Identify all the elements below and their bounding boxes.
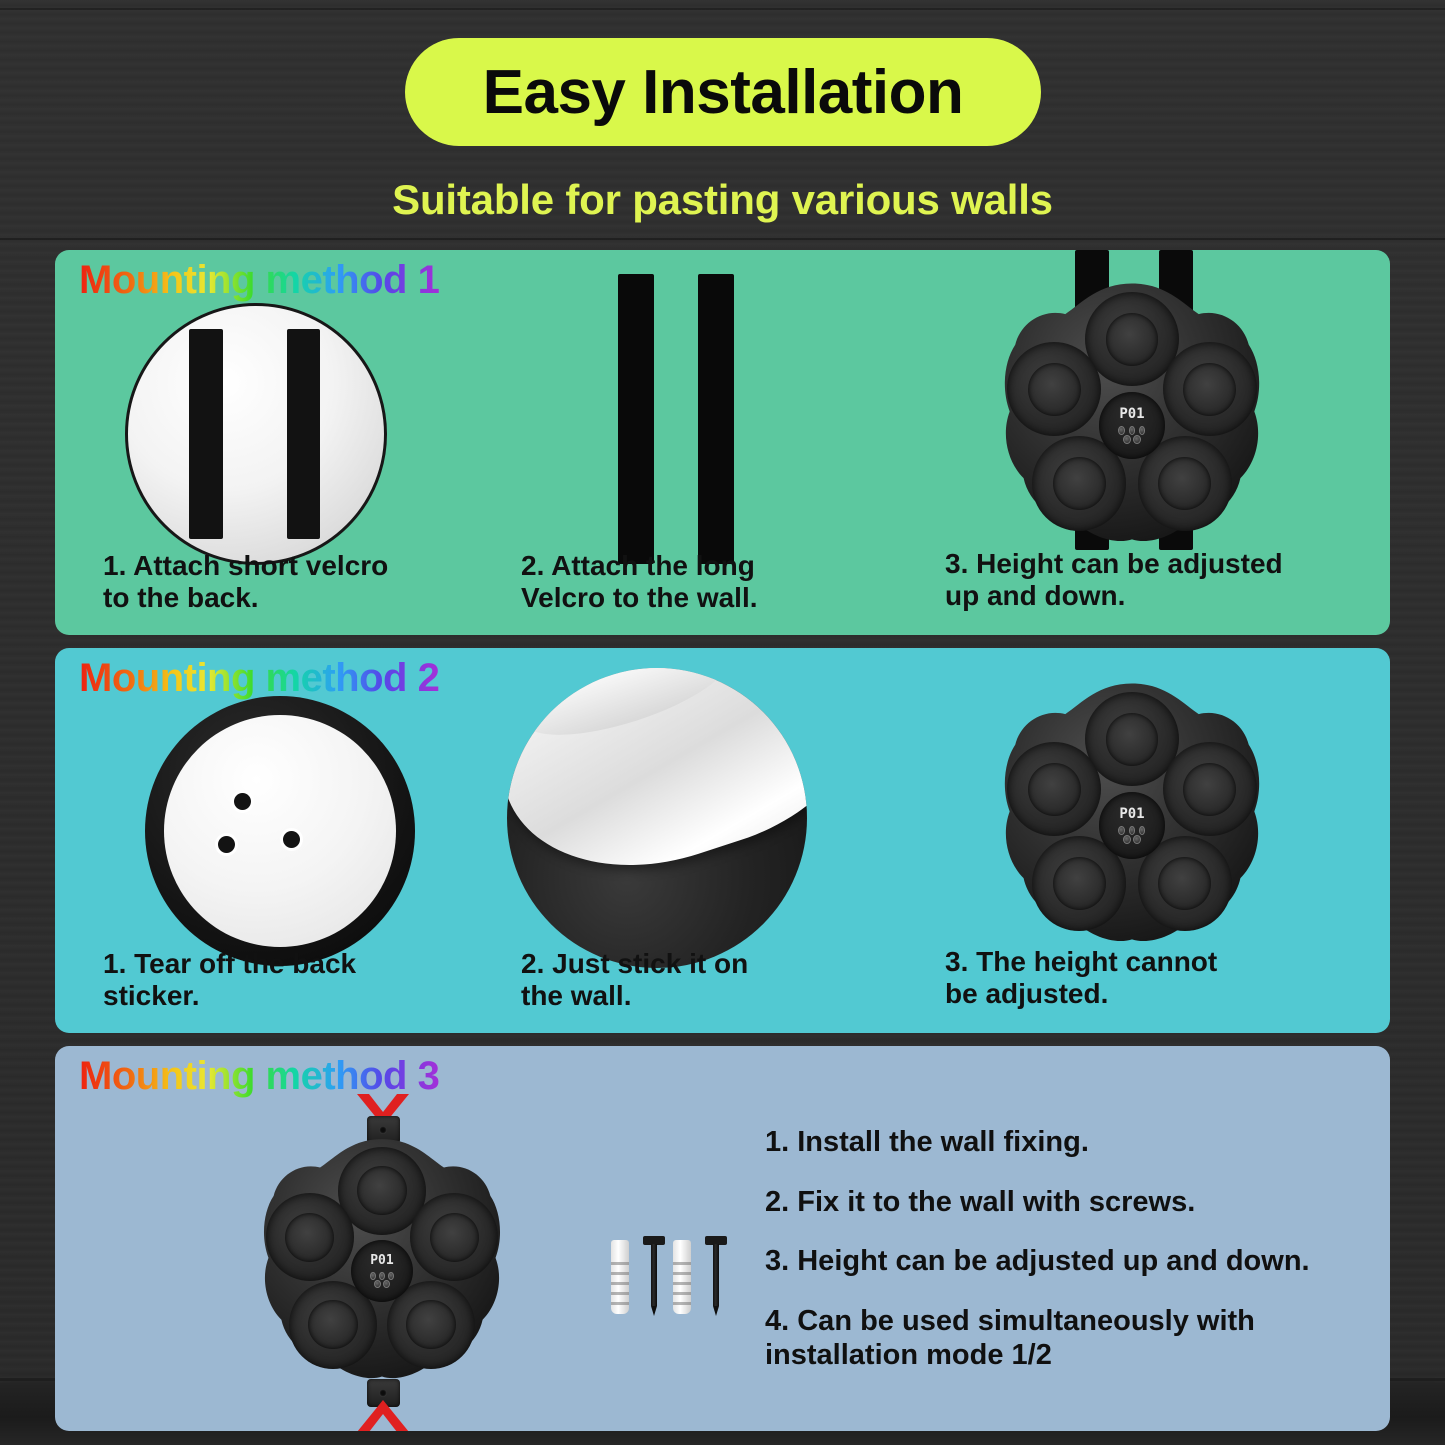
panel-3-step-list: 1. Install the wall fixing. 2. Fix it to… bbox=[765, 1126, 1375, 1398]
screw-tip bbox=[713, 1306, 719, 1316]
target-pad-left bbox=[266, 1193, 354, 1281]
screw bbox=[643, 1236, 665, 1318]
display-code: P01 bbox=[1119, 406, 1144, 422]
panel-1-heading: Mounting method 1 bbox=[79, 258, 439, 303]
control-button[interactable] bbox=[1139, 426, 1145, 435]
music-boxing-machine: P01 bbox=[253, 1134, 511, 1392]
panel-3-heading: Mounting method 3 bbox=[79, 1054, 439, 1099]
velcro-strip bbox=[189, 329, 222, 539]
infographic-root: Easy Installation Suitable for pasting v… bbox=[0, 0, 1445, 1445]
panel-mounting-method-1: Mounting method 1 bbox=[55, 250, 1390, 635]
screw-shaft bbox=[713, 1244, 719, 1306]
pad-inner bbox=[1106, 313, 1159, 366]
screw-tip bbox=[651, 1306, 657, 1316]
long-velcro-strip bbox=[618, 274, 654, 564]
pad-inner bbox=[1053, 857, 1106, 910]
control-buttons bbox=[370, 1272, 394, 1288]
panel-3-step-4: 4. Can be used simultaneously with insta… bbox=[765, 1305, 1375, 1372]
control-button[interactable] bbox=[1129, 826, 1135, 835]
panel-mounting-method-2: Mounting method 2 bbox=[55, 648, 1390, 1033]
sticker-film bbox=[164, 715, 396, 947]
sticker-hole bbox=[283, 831, 300, 848]
control-button[interactable] bbox=[1133, 435, 1141, 444]
pad-inner bbox=[430, 1213, 479, 1262]
control-button[interactable] bbox=[379, 1272, 385, 1280]
panel-3-step-1: 1. Install the wall fixing. bbox=[765, 1126, 1375, 1160]
control-button[interactable] bbox=[374, 1280, 381, 1288]
panel-1-step-3: 3. Height can be adjusted up and down. bbox=[945, 548, 1385, 612]
control-button[interactable] bbox=[370, 1272, 376, 1280]
pad-inner bbox=[1028, 763, 1081, 816]
target-pad-left bbox=[1007, 342, 1102, 437]
panel-1-step-1: 1. Attach short velcro to the back. bbox=[103, 550, 493, 614]
display-code: P01 bbox=[1119, 806, 1144, 822]
device-display: P01 bbox=[351, 1240, 413, 1302]
wall-anchor bbox=[673, 1240, 691, 1314]
pad-inner bbox=[285, 1213, 334, 1262]
back-sticker-image bbox=[145, 696, 415, 966]
control-buttons bbox=[1118, 426, 1145, 444]
screw-shaft bbox=[651, 1244, 657, 1306]
pad-inner bbox=[1053, 457, 1106, 510]
control-button[interactable] bbox=[1118, 826, 1124, 835]
control-button[interactable] bbox=[1123, 835, 1131, 844]
arrow-up-icon bbox=[357, 1400, 409, 1431]
screw bbox=[705, 1236, 727, 1318]
wall-anchor bbox=[611, 1240, 629, 1314]
short-velcro-disc-image bbox=[125, 303, 387, 565]
long-velcro-strip bbox=[698, 274, 734, 564]
panel-3-step-3: 3. Height can be adjusted up and down. bbox=[765, 1245, 1375, 1279]
panel-2-step-1: 1. Tear off the back sticker. bbox=[103, 948, 493, 1012]
display-code: P01 bbox=[370, 1253, 393, 1268]
target-pad-right bbox=[1163, 342, 1258, 437]
pad-inner bbox=[406, 1300, 455, 1349]
panel-3-step-2: 2. Fix it to the wall with screws. bbox=[765, 1186, 1375, 1220]
control-buttons bbox=[1118, 826, 1145, 844]
page-title: Easy Installation bbox=[483, 57, 964, 128]
page-subtitle: Suitable for pasting various walls bbox=[0, 176, 1445, 224]
music-boxing-machine: P01 bbox=[993, 278, 1271, 556]
panel-1-step-2: 2. Attach the long Velcro to the wall. bbox=[521, 550, 921, 614]
control-button[interactable] bbox=[1139, 826, 1145, 835]
pad-inner bbox=[308, 1300, 357, 1349]
pad-inner bbox=[1183, 763, 1236, 816]
control-button[interactable] bbox=[383, 1280, 390, 1288]
music-boxing-machine: P01 bbox=[993, 678, 1271, 956]
pad-inner bbox=[1106, 713, 1159, 766]
velcro-strip bbox=[287, 329, 320, 539]
pad-inner bbox=[1028, 363, 1081, 416]
panel-mounting-method-3: Mounting method 3 bbox=[55, 1046, 1390, 1431]
panel-2-step-2: 2. Just stick it on the wall. bbox=[521, 948, 921, 1012]
title-pill: Easy Installation bbox=[405, 38, 1041, 146]
control-button[interactable] bbox=[1129, 426, 1135, 435]
target-pad-right bbox=[410, 1193, 498, 1281]
pad-inner bbox=[1183, 363, 1236, 416]
target-pad-right bbox=[1163, 742, 1258, 837]
wall-seam bbox=[0, 8, 1445, 10]
target-pad-left bbox=[1007, 742, 1102, 837]
device-display: P01 bbox=[1099, 392, 1166, 459]
wall-seam bbox=[0, 238, 1445, 240]
pad-inner bbox=[357, 1166, 406, 1215]
control-button[interactable] bbox=[1133, 835, 1141, 844]
device-display: P01 bbox=[1099, 792, 1166, 859]
panel-2-heading: Mounting method 2 bbox=[79, 656, 439, 701]
peeling-sticker-image bbox=[507, 668, 807, 968]
control-button[interactable] bbox=[388, 1272, 394, 1280]
panel-2-step-3: 3. The height cannot be adjusted. bbox=[945, 946, 1385, 1010]
control-button[interactable] bbox=[1118, 426, 1124, 435]
control-button[interactable] bbox=[1123, 435, 1131, 444]
mounting-hardware bbox=[611, 1236, 721, 1326]
